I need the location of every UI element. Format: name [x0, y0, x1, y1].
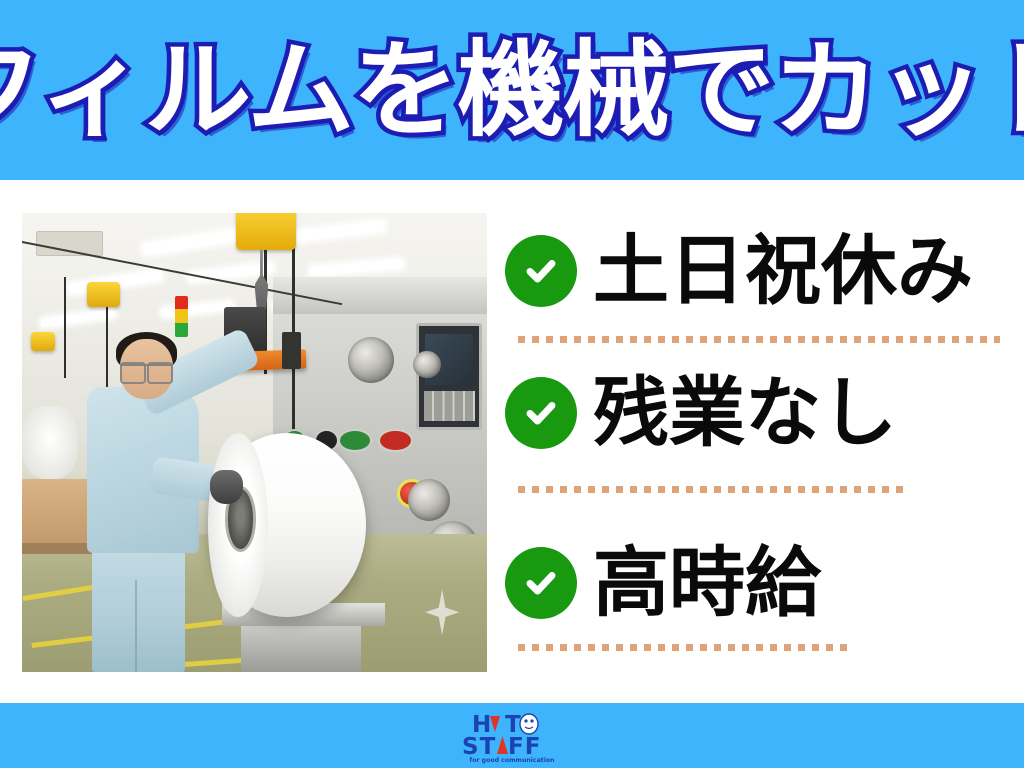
work-glove: [210, 470, 243, 504]
worker-legs: [92, 543, 185, 672]
worker-leg-seam: [135, 580, 137, 672]
workplace-photo: [22, 213, 487, 672]
check-circle-icon: [505, 377, 577, 449]
photo-scene: [22, 213, 487, 672]
hot-staff-logo: H T ST FF for good communication: [452, 708, 572, 764]
top-banner: フィルムを機械でカット: [0, 0, 1024, 180]
machine-roller: [408, 479, 450, 520]
lifting-clamp-end: [282, 332, 301, 369]
hoist-cable: [64, 277, 66, 378]
ceiling-vent-icon: [36, 231, 103, 256]
bottom-banner: H T ST FF for good communication: [0, 703, 1024, 768]
check-circle-icon: [505, 547, 577, 619]
crane-hoist-icon: [236, 213, 296, 250]
benefit-item-3: 高時給: [505, 545, 821, 621]
benefit-item-2: 残業なし: [505, 375, 897, 451]
control-keypad: [424, 391, 475, 421]
main-content: 土日祝休み 残業なし 高時給: [0, 180, 1024, 703]
benefit-divider: [518, 644, 852, 651]
page-title: フィルムを機械でカット: [0, 0, 1024, 180]
hoist-unit-icon: [87, 282, 120, 307]
benefit-label: 残業なし: [593, 375, 897, 451]
hoist-unit-icon: [31, 332, 54, 350]
hoist-cable: [106, 296, 108, 388]
logo-tagline: for good communication: [470, 757, 555, 764]
benefits-list: 土日祝休み 残業なし 高時給: [505, 180, 1024, 703]
background-film-roll: [22, 406, 78, 479]
signal-tower-icon: [175, 296, 187, 337]
machine-button-row-secondary: [338, 429, 412, 452]
job-advertisement-poster: フィルムを機械でカット: [0, 0, 1024, 768]
machine-roller: [348, 337, 395, 383]
mascot-icon: [520, 714, 538, 734]
safety-glasses-icon: [120, 364, 173, 378]
check-circle-icon: [505, 235, 577, 307]
machine-roller: [413, 351, 441, 379]
benefit-item-1: 土日祝休み: [505, 233, 973, 309]
benefit-divider: [518, 336, 1000, 343]
benefit-divider: [518, 486, 907, 493]
benefit-label: 高時給: [593, 545, 821, 621]
machine-table-base: [241, 626, 362, 672]
benefit-label: 土日祝休み: [593, 233, 973, 309]
